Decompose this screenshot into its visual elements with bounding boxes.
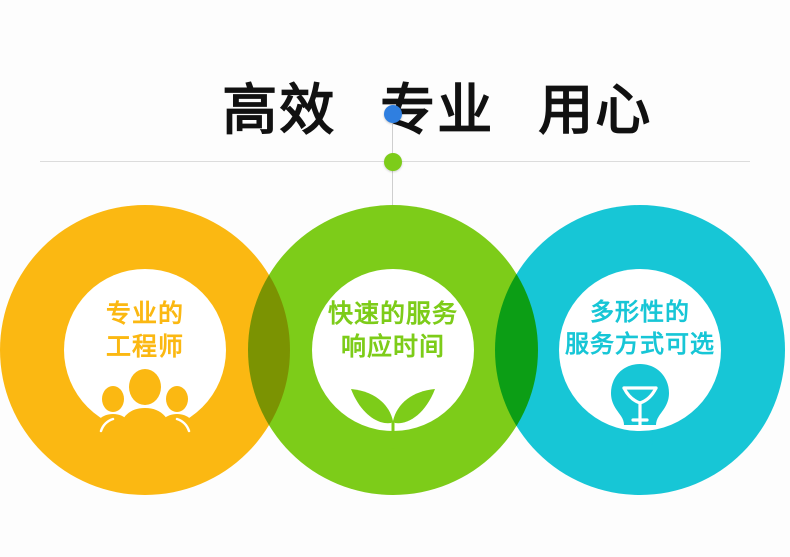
lightbulb-icon [602,362,678,448]
circle-label-response-time-line1: 快速的服务 [328,299,458,328]
circle-label-service-options-line1: 多形性的 [590,298,690,326]
sprout-leaf-icon [341,363,445,451]
circle-label-service-options-line2: 服务方式可选 [565,329,715,361]
people-group-icon [91,369,199,447]
circle-label-engineers-line2: 工程师 [106,330,184,363]
circle-label-service-options: 多形性的 服务方式可选 [565,297,715,360]
infographic-canvas: 高效专业用心 专业的 工程师 [0,0,790,557]
circle-label-response-time: 快速的服务 响应时间 [328,297,458,363]
circle-content-service-options: 多形性的 服务方式可选 [495,205,785,495]
circle-label-engineers: 专业的 工程师 [106,297,184,363]
circle-content-engineers: 专业的 工程师 [0,205,290,495]
circle-label-engineers-line1: 专业的 [106,299,184,328]
circle-label-response-time-line2: 响应时间 [328,330,458,363]
